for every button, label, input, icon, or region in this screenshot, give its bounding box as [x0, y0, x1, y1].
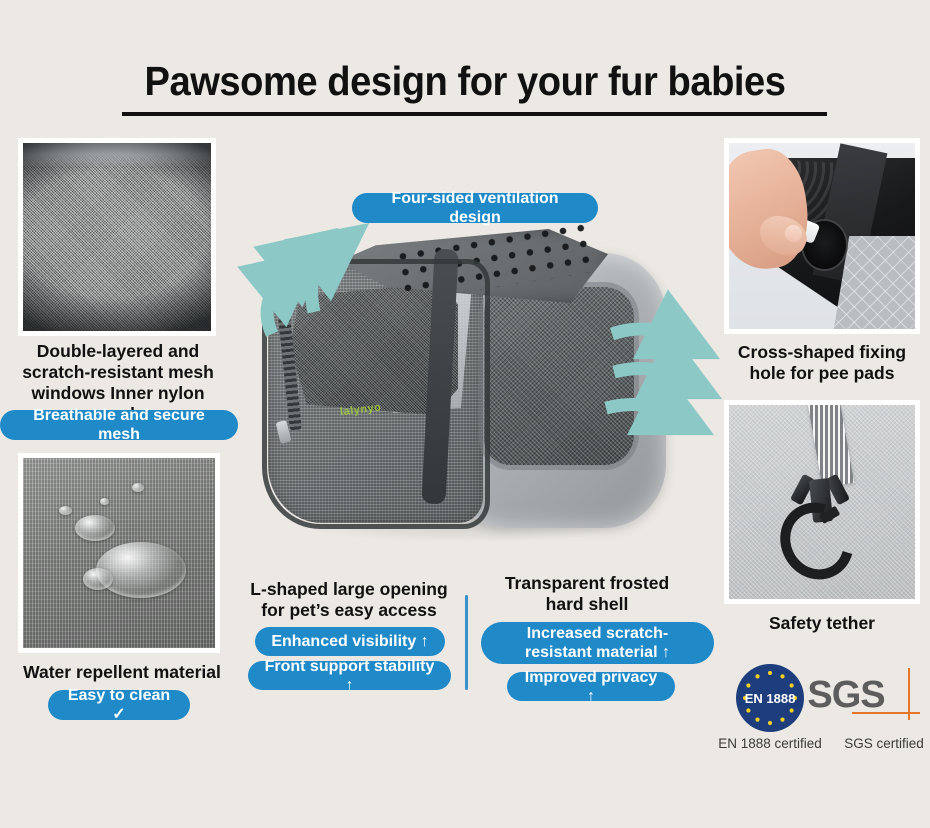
title-underline-rule: [122, 112, 827, 116]
peepad-caption: Cross-shaped fixing hole for pee pads: [714, 342, 930, 384]
water-droplet: [59, 506, 72, 515]
water-photo-frame: [18, 453, 220, 653]
water-droplet: [83, 568, 113, 590]
opening-caption-line2: for pet’s easy access: [246, 600, 452, 621]
en1888-logo: EN 1888: [736, 664, 804, 732]
badge-enhanced-visibility[interactable]: Enhanced visibility ↑: [255, 627, 445, 656]
badge-front-support-stability[interactable]: Front support stability ↑: [248, 661, 451, 690]
en1888-logo-text: EN 1888: [745, 691, 796, 706]
water-fabric-texture: [23, 458, 215, 648]
peepad-caption-line2: hole for pee pads: [714, 363, 930, 384]
opening-caption-line1: L-shaped large opening: [246, 579, 452, 600]
peepad-photo-frame: [724, 138, 920, 334]
shell-caption-line1: Transparent frosted: [487, 573, 687, 594]
peepad-photo: [729, 143, 915, 329]
water-caption: Water repellent material: [8, 662, 236, 683]
tether-photo-frame: [724, 400, 920, 604]
mesh-photo: [23, 143, 211, 331]
water-droplet: [132, 483, 144, 492]
hand-pee-pad-scene: [729, 143, 915, 329]
infographic-canvas: Pawsome design for your fur babies Doubl…: [0, 0, 930, 828]
section-divider: [465, 595, 468, 690]
water-droplet: [100, 498, 109, 505]
badge-easy-to-clean[interactable]: Easy to clean ✓: [48, 690, 190, 720]
tether-photo: [729, 405, 915, 599]
pet-carrier-product-image: lalynyo: [252, 225, 682, 560]
opening-caption: L-shaped large opening for pet’s easy ac…: [246, 579, 452, 621]
safety-tether-scene: [729, 405, 915, 599]
tether-caption: Safety tether: [714, 613, 930, 634]
water-droplet: [75, 515, 115, 541]
shell-caption: Transparent frosted hard shell: [487, 573, 687, 615]
mesh-caption-line2: scratch-resistant mesh: [8, 362, 228, 383]
water-droplet: [96, 542, 186, 598]
shell-caption-line2: hard shell: [487, 594, 687, 615]
badge-four-sided-ventilation[interactable]: Four-sided ventilation design: [352, 193, 598, 223]
water-photo: [23, 458, 215, 648]
sgs-orange-bar-v: [908, 668, 910, 720]
mesh-texture: [23, 143, 211, 331]
page-title: Pawsome design for your fur babies: [33, 58, 898, 104]
shell-mesh-window: [484, 287, 634, 465]
badge-scratch-resistant[interactable]: Increased scratch-resistant material ↑: [481, 622, 714, 664]
badge-breathable-mesh[interactable]: Breathable and secure mesh: [0, 410, 238, 440]
page-title-wrap: Pawsome design for your fur babies: [0, 58, 930, 104]
mesh-caption-line1: Double-layered and: [8, 341, 228, 362]
sgs-logo-text: SGS: [807, 676, 884, 714]
badge-improved-privacy[interactable]: Improved privacy ↑: [507, 672, 675, 701]
sgs-caption: SGS certified: [816, 736, 930, 751]
mesh-photo-frame: [18, 138, 216, 336]
snap-hook-icon: [767, 490, 867, 593]
peepad-caption-line1: Cross-shaped fixing: [714, 342, 930, 363]
